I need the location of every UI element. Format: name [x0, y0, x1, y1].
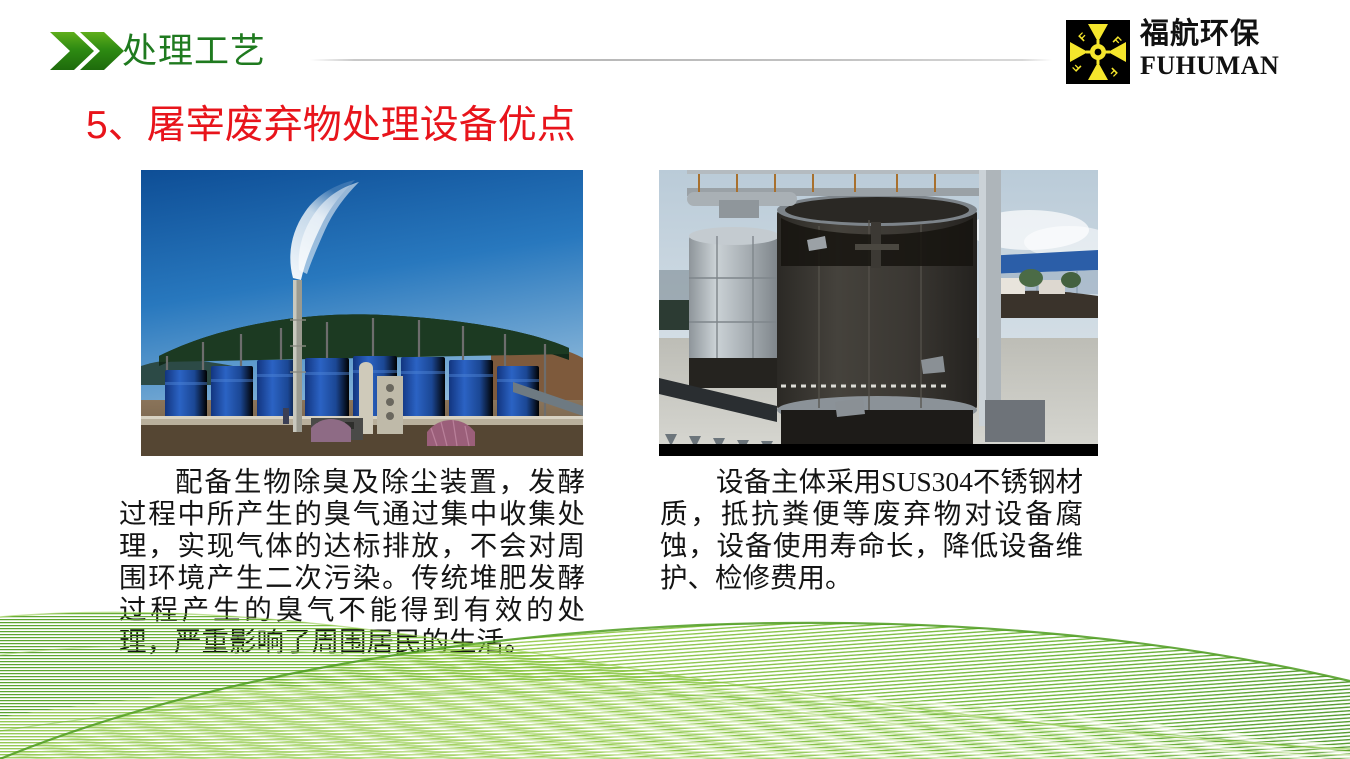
photo-stainless-tank: [659, 170, 1098, 456]
double-chevron-right-icon: [48, 30, 128, 70]
fuhuman-logo-mark-icon: F F F F: [1066, 20, 1130, 84]
logo-wordmark: 福航环保 FUHUMAN: [1140, 18, 1270, 80]
company-logo: F F F F 福航环保 FUHUMAN: [1066, 20, 1266, 86]
caption-left-text: 配备生物除臭及除尘装置，发酵过程中所产生的臭气通过集中收集处理，实现气体的达标排…: [119, 466, 585, 658]
photo-biogas-plant: [141, 170, 583, 456]
page-title: 5、屠宰废弃物处理设备优点: [86, 102, 576, 150]
caption-right-text: 设备主体采用SUS304不锈钢材质，抵抗粪便等废弃物对设备腐蚀，设备使用寿命长，…: [660, 466, 1083, 594]
logo-name-cn: 福航环保: [1140, 18, 1270, 51]
logo-name-en: FUHUMAN: [1140, 51, 1270, 80]
slide-canvas: 处理工艺 F F: [0, 0, 1350, 759]
header-title: 处理工艺: [122, 32, 266, 72]
header-divider-rule: [310, 59, 1052, 61]
